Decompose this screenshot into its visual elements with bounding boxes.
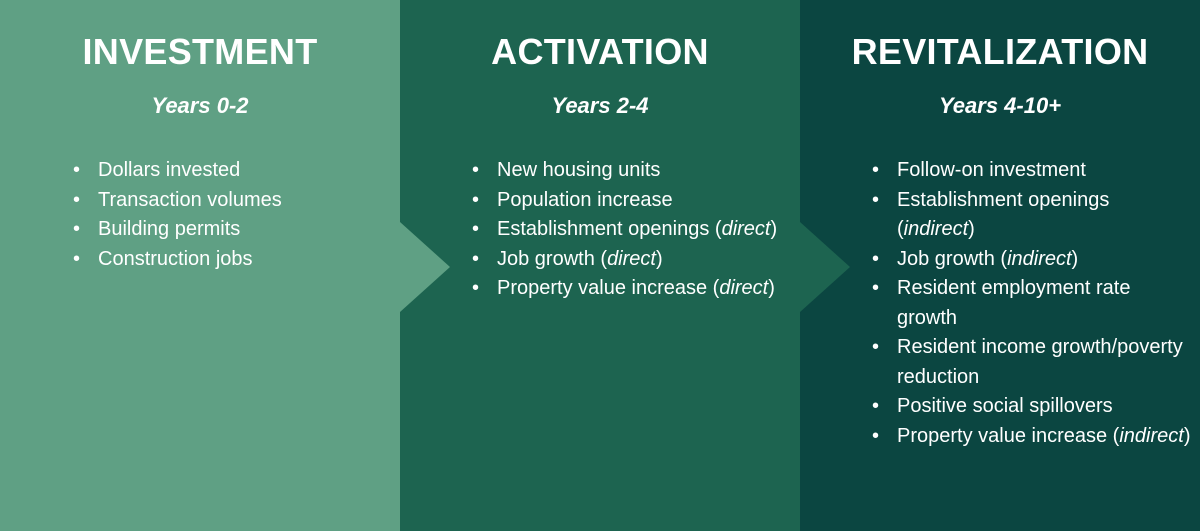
bullet-point-icon: • (472, 274, 497, 304)
phase-subtitle-activation: Years 2-4 (400, 93, 800, 119)
bullet-point-icon: • (872, 392, 897, 422)
list-item-label: Establishment openings (indirect) (897, 189, 1109, 241)
bullet-point-icon: • (472, 245, 497, 275)
list-item-qualifier: direct (722, 218, 771, 240)
bullet-point-icon: • (73, 245, 98, 275)
bullet-point-icon: • (73, 186, 98, 216)
list-item: •Follow-on investment (872, 156, 1192, 186)
bullet-point-icon: • (872, 186, 897, 216)
phase-panel-investment: INVESTMENT Years 0-2 •Dollars invested•T… (0, 0, 400, 531)
list-item: •New housing units (472, 156, 782, 186)
list-item-label: Property value increase (indirect) (897, 425, 1190, 447)
list-item-label: Job growth (indirect) (897, 248, 1078, 270)
list-item: •Building permits (73, 215, 373, 245)
list-item-label: Resident income growth/poverty reduction (897, 336, 1183, 388)
phase-panel-revitalization: REVITALIZATION Years 4-10+ •Follow-on in… (800, 0, 1200, 531)
phase-title-activation: ACTIVATION (400, 33, 800, 71)
bullet-point-icon: • (872, 245, 897, 275)
phase-panel-content: ACTIVATION Years 2-4 •New housing units•… (400, 0, 800, 531)
list-item: •Job growth (direct) (472, 245, 782, 275)
list-item-label: Resident employment rate growth (897, 277, 1130, 329)
list-item-label: Establishment openings (direct) (497, 218, 777, 240)
phase-subtitle-investment: Years 0-2 (0, 93, 400, 119)
phase-subtitle-revitalization: Years 4-10+ (800, 93, 1200, 119)
phase-title-revitalization: REVITALIZATION (800, 33, 1200, 71)
list-item: •Property value increase (direct) (472, 274, 782, 304)
list-item: •Establishment openings (indirect) (872, 186, 1192, 245)
list-item: •Construction jobs (73, 245, 373, 275)
list-item-qualifier: direct (719, 277, 768, 299)
phase-bullet-list-investment: •Dollars invested•Transaction volumes•Bu… (73, 156, 373, 274)
list-item-label: Population increase (497, 189, 673, 211)
list-item-qualifier: direct (607, 248, 656, 270)
phase-title-investment: INVESTMENT (0, 33, 400, 71)
phase-bullet-list-revitalization: •Follow-on investment•Establishment open… (872, 156, 1192, 451)
list-item: •Population increase (472, 186, 782, 216)
list-item: •Establishment openings (direct) (472, 215, 782, 245)
phase-panel-content: REVITALIZATION Years 4-10+ •Follow-on in… (800, 0, 1200, 531)
list-item: •Dollars invested (73, 156, 373, 186)
list-item: •Resident income growth/poverty reductio… (872, 333, 1192, 392)
list-item-label: Dollars invested (98, 159, 240, 181)
bullet-point-icon: • (472, 156, 497, 186)
list-item: •Transaction volumes (73, 186, 373, 216)
list-item-qualifier: indirect (1119, 425, 1183, 447)
bullet-point-icon: • (872, 156, 897, 186)
bullet-point-icon: • (872, 333, 897, 363)
bullet-point-icon: • (872, 274, 897, 304)
list-item: •Positive social spillovers (872, 392, 1192, 422)
phase-progression-infographic: INVESTMENT Years 0-2 •Dollars invested•T… (0, 0, 1200, 531)
list-item: •Job growth (indirect) (872, 245, 1192, 275)
list-item-label: Property value increase (direct) (497, 277, 775, 299)
bullet-point-icon: • (872, 422, 897, 452)
bullet-point-icon: • (472, 186, 497, 216)
phase-bullet-list-activation: •New housing units•Population increase•E… (472, 156, 782, 304)
list-item-label: Transaction volumes (98, 189, 282, 211)
list-item-qualifier: indirect (1007, 248, 1071, 270)
list-item-label: New housing units (497, 159, 660, 181)
phase-panel-activation: ACTIVATION Years 2-4 •New housing units•… (400, 0, 800, 531)
bullet-point-icon: • (73, 215, 98, 245)
list-item: •Resident employment rate growth (872, 274, 1192, 333)
list-item-qualifier: indirect (904, 218, 968, 240)
bullet-point-icon: • (472, 215, 497, 245)
list-item: •Property value increase (indirect) (872, 422, 1192, 452)
phase-panel-content: INVESTMENT Years 0-2 •Dollars invested•T… (0, 0, 400, 531)
list-item-label: Follow-on investment (897, 159, 1086, 181)
bullet-point-icon: • (73, 156, 98, 186)
list-item-label: Building permits (98, 218, 240, 240)
list-item-label: Positive social spillovers (897, 395, 1113, 417)
list-item-label: Job growth (direct) (497, 248, 663, 270)
list-item-label: Construction jobs (98, 248, 253, 270)
